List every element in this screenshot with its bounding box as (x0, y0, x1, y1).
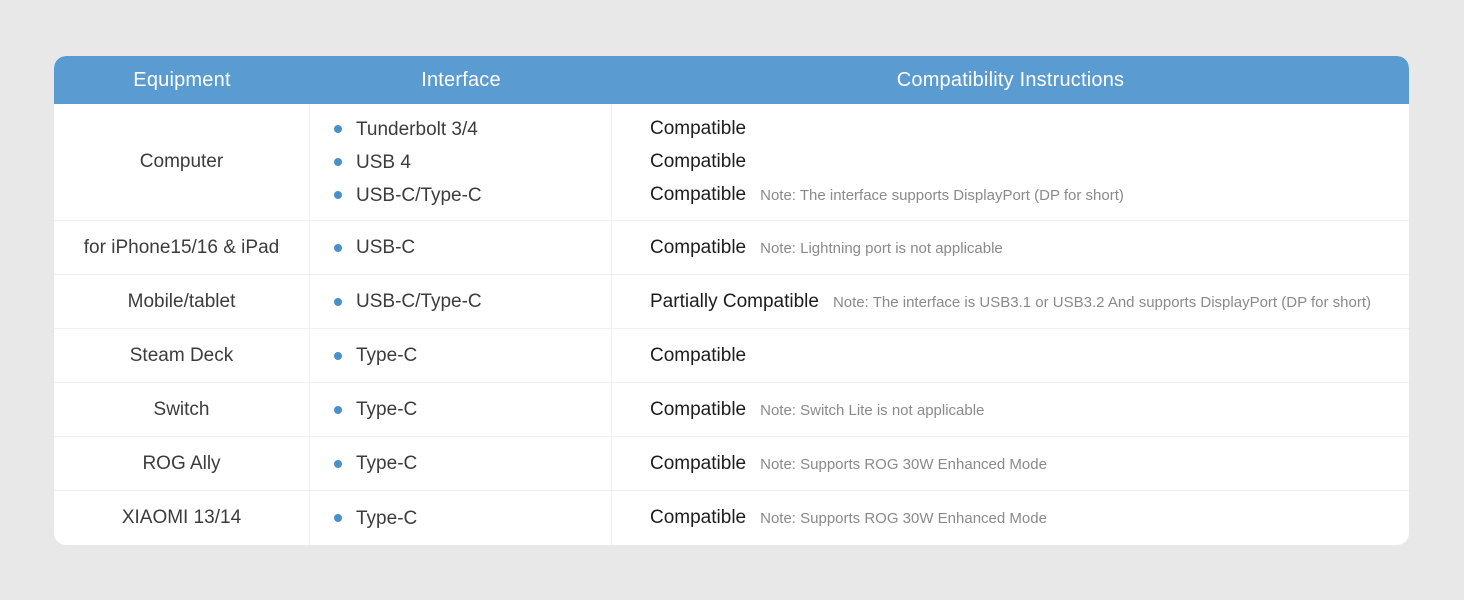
cell-compatibility: CompatibleNote: Switch Lite is not appli… (612, 383, 1409, 436)
column-header-interface: Interface (310, 56, 612, 104)
cell-compatibility: CompatibleNote: Supports ROG 30W Enhance… (612, 437, 1409, 490)
cell-interface: USB-C (310, 221, 612, 274)
cell-equipment: XIAOMI 13/14 (54, 491, 310, 545)
status-label: Compatible (650, 178, 746, 211)
compatibility-line: CompatibleNote: Supports ROG 30W Enhance… (650, 501, 1405, 535)
compatibility-note: Note: The interface is USB3.1 or USB3.2 … (833, 286, 1371, 319)
interface-item: USB-C (334, 231, 611, 264)
cell-compatibility: CompatibleNote: Supports ROG 30W Enhance… (612, 491, 1409, 545)
cell-equipment: Mobile/tablet (54, 275, 310, 328)
table-row: ROG AllyType-CCompatibleNote: Supports R… (54, 437, 1409, 491)
compatibility-note: Note: Switch Lite is not applicable (760, 394, 984, 427)
cell-interface: Type-C (310, 437, 612, 490)
interface-label: Type-C (356, 393, 417, 426)
bullet-icon (334, 298, 342, 306)
cell-compatibility: CompatibleCompatibleCompatibleNote: The … (612, 104, 1409, 220)
cell-interface: Type-C (310, 329, 612, 382)
interface-label: USB-C/Type-C (356, 285, 482, 318)
bullet-icon (334, 460, 342, 468)
cell-interface: Tunderbolt 3/4USB 4USB-C/Type-C (310, 104, 612, 220)
interface-label: Tunderbolt 3/4 (356, 113, 478, 146)
cell-interface: Type-C (310, 383, 612, 436)
table-row: SwitchType-CCompatibleNote: Switch Lite … (54, 383, 1409, 437)
status-label: Compatible (650, 145, 746, 178)
interface-item: USB 4 (334, 146, 611, 179)
status-label: Compatible (650, 447, 746, 480)
compatibility-line: CompatibleNote: Supports ROG 30W Enhance… (650, 447, 1405, 481)
bullet-icon (334, 406, 342, 414)
status-label: Compatible (650, 112, 746, 145)
interface-item: USB-C/Type-C (334, 179, 611, 212)
column-header-equipment: Equipment (54, 56, 310, 104)
bullet-icon (334, 158, 342, 166)
cell-compatibility: Compatible (612, 329, 1409, 382)
table-body: ComputerTunderbolt 3/4USB 4USB-C/Type-CC… (54, 104, 1409, 545)
interface-label: Type-C (356, 447, 417, 480)
bullet-icon (334, 514, 342, 522)
bullet-icon (334, 352, 342, 360)
compatibility-note: Note: Supports ROG 30W Enhanced Mode (760, 502, 1047, 535)
interface-item: USB-C/Type-C (334, 285, 611, 318)
compatibility-line: Compatible (650, 145, 1405, 178)
cell-equipment: Switch (54, 383, 310, 436)
cell-interface: Type-C (310, 491, 612, 545)
compatibility-line: Partially CompatibleNote: The interface … (650, 285, 1405, 319)
table-header-row: Equipment Interface Compatibility Instru… (54, 56, 1409, 104)
cell-equipment: ROG Ally (54, 437, 310, 490)
table-row: XIAOMI 13/14Type-CCompatibleNote: Suppor… (54, 491, 1409, 545)
status-label: Partially Compatible (650, 285, 819, 318)
interface-item: Type-C (334, 502, 611, 535)
compatibility-note: Note: The interface supports DisplayPort… (760, 179, 1124, 212)
column-header-compatibility: Compatibility Instructions (612, 56, 1409, 104)
cell-equipment: for iPhone15/16 & iPad (54, 221, 310, 274)
status-label: Compatible (650, 501, 746, 534)
cell-equipment: Steam Deck (54, 329, 310, 382)
interface-item: Type-C (334, 339, 611, 372)
interface-label: Type-C (356, 339, 417, 372)
cell-interface: USB-C/Type-C (310, 275, 612, 328)
compatibility-line: CompatibleNote: The interface supports D… (650, 178, 1405, 212)
interface-label: USB-C/Type-C (356, 179, 482, 212)
table-row: Mobile/tabletUSB-C/Type-CPartially Compa… (54, 275, 1409, 329)
status-label: Compatible (650, 393, 746, 426)
page-root: Equipment Interface Compatibility Instru… (0, 0, 1464, 600)
compatibility-line: CompatibleNote: Switch Lite is not appli… (650, 393, 1405, 427)
cell-compatibility: CompatibleNote: Lightning port is not ap… (612, 221, 1409, 274)
compatibility-line: Compatible (650, 339, 1405, 372)
table-row: Steam DeckType-CCompatible (54, 329, 1409, 383)
bullet-icon (334, 125, 342, 133)
compatibility-line: CompatibleNote: Lightning port is not ap… (650, 231, 1405, 265)
compatibility-line: Compatible (650, 112, 1405, 145)
compatibility-note: Note: Lightning port is not applicable (760, 232, 1003, 265)
bullet-icon (334, 244, 342, 252)
interface-label: USB 4 (356, 146, 411, 179)
status-label: Compatible (650, 231, 746, 264)
bullet-icon (334, 191, 342, 199)
interface-item: Tunderbolt 3/4 (334, 113, 611, 146)
cell-compatibility: Partially CompatibleNote: The interface … (612, 275, 1409, 328)
compatibility-table-card: Equipment Interface Compatibility Instru… (54, 56, 1409, 545)
table-row: ComputerTunderbolt 3/4USB 4USB-C/Type-CC… (54, 104, 1409, 221)
table-row: for iPhone15/16 & iPadUSB-CCompatibleNot… (54, 221, 1409, 275)
cell-equipment: Computer (54, 104, 310, 220)
compatibility-note: Note: Supports ROG 30W Enhanced Mode (760, 448, 1047, 481)
interface-label: Type-C (356, 502, 417, 535)
interface-label: USB-C (356, 231, 415, 264)
interface-item: Type-C (334, 393, 611, 426)
interface-item: Type-C (334, 447, 611, 480)
status-label: Compatible (650, 339, 746, 372)
